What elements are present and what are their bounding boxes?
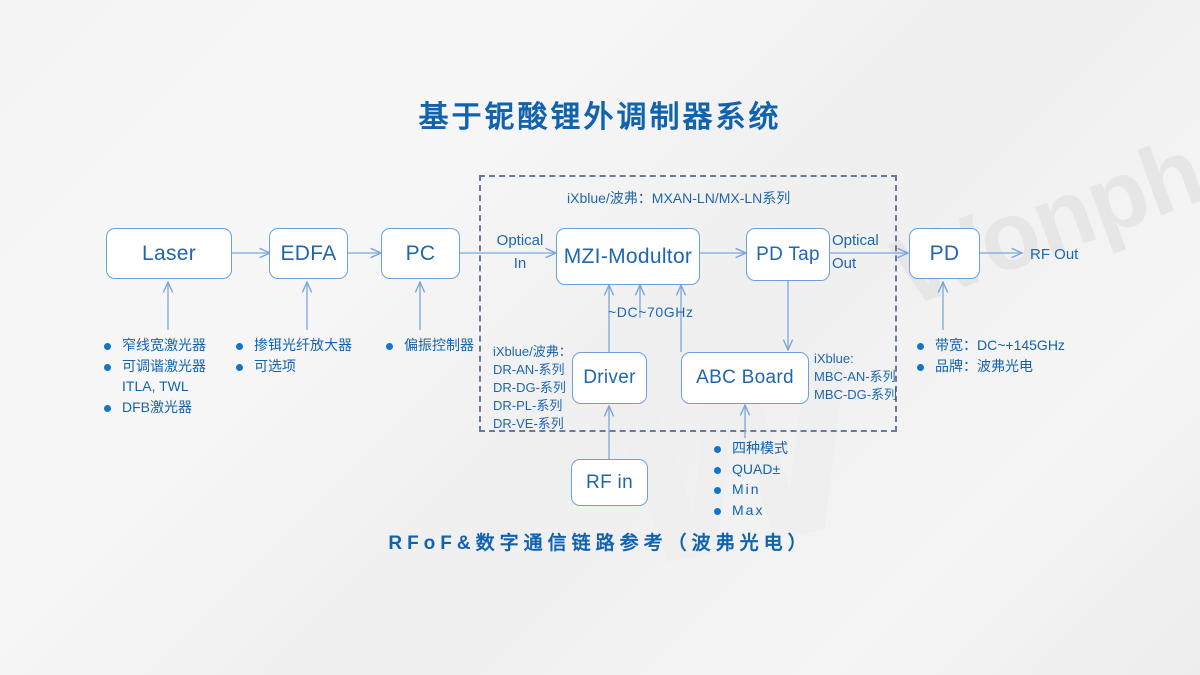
node-driver[interactable]: Driver xyxy=(572,352,647,404)
rf-out-label: RF Out xyxy=(1030,244,1078,267)
node-rf-in[interactable]: RF in xyxy=(571,459,648,506)
list-item: 窄线宽激光器 xyxy=(104,337,206,355)
edfa-spec-list: 掺铒光纤放大器 可选项 xyxy=(236,337,352,378)
abc-models-label: iXblue: MBC-AN-系列 MBC-DG-系列 xyxy=(814,350,897,404)
bullet-dot-icon xyxy=(386,343,393,350)
node-edfa[interactable]: EDFA xyxy=(269,228,348,279)
list-item: 偏振控制器 xyxy=(386,337,474,355)
list-item: 带宽：DC~+145GHz xyxy=(917,337,1065,355)
bullet-dot-icon xyxy=(714,508,721,515)
list-item: Max xyxy=(714,502,788,520)
bullet-dot-icon xyxy=(714,467,721,474)
abc-modes-list: 四种模式 QUAD± Min Max xyxy=(714,440,788,522)
list-item: 掺铒光纤放大器 xyxy=(236,337,352,355)
optical-out-label: Optical Out xyxy=(832,230,888,275)
node-abc-board[interactable]: ABC Board xyxy=(681,352,809,404)
bullet-dot-icon xyxy=(104,384,111,391)
bullet-dot-icon xyxy=(714,446,721,453)
list-item: Min xyxy=(714,481,788,499)
list-item: ITLA, TWL xyxy=(104,378,206,396)
node-pd[interactable]: PD xyxy=(909,228,980,279)
list-item: 四种模式 xyxy=(714,440,788,458)
bullet-dot-icon xyxy=(714,487,721,494)
driver-models-label: iXblue/波弗： DR-AN-系列 DR-DG-系列 DR-PL-系列 DR… xyxy=(493,343,572,433)
page-title: 基于铌酸锂外调制器系统 xyxy=(0,92,1200,136)
list-item: 品牌：波弗光电 xyxy=(917,358,1065,376)
list-item: 可调谐激光器 xyxy=(104,358,206,376)
node-pd-tap[interactable]: PD Tap xyxy=(746,228,830,281)
bullet-dot-icon xyxy=(236,343,243,350)
list-item: DFB激光器 xyxy=(104,399,206,417)
node-laser[interactable]: Laser xyxy=(106,228,232,279)
bullet-dot-icon xyxy=(104,343,111,350)
diagram-canvas: W Wonphot 基于铌酸锂外调制器系统 RFoF&数字通信链路参考（波弗光电… xyxy=(0,0,1200,675)
group-caption-label: iXblue/波弗：MXAN-LN/MX-LN系列 xyxy=(567,189,790,208)
node-mzi-modulator[interactable]: MZI-Modultor xyxy=(556,228,700,285)
pd-spec-list: 带宽：DC~+145GHz 品牌：波弗光电 xyxy=(917,337,1065,378)
bullet-dot-icon xyxy=(917,364,924,371)
laser-spec-list: 窄线宽激光器 可调谐激光器 ITLA, TWL DFB激光器 xyxy=(104,337,206,419)
bullet-dot-icon xyxy=(104,405,111,412)
bullet-dot-icon xyxy=(236,364,243,371)
bullet-dot-icon xyxy=(104,364,111,371)
page-caption: RFoF&数字通信链路参考（波弗光电） xyxy=(0,528,1200,555)
node-pc[interactable]: PC xyxy=(381,228,460,279)
pc-spec-list: 偏振控制器 xyxy=(386,337,474,358)
modulation-bandwidth-label: ~DC~70GHz xyxy=(608,303,694,322)
list-item: 可选项 xyxy=(236,358,352,376)
optical-in-label: Optical In xyxy=(494,230,546,275)
bullet-dot-icon xyxy=(917,343,924,350)
list-item: QUAD± xyxy=(714,461,788,479)
